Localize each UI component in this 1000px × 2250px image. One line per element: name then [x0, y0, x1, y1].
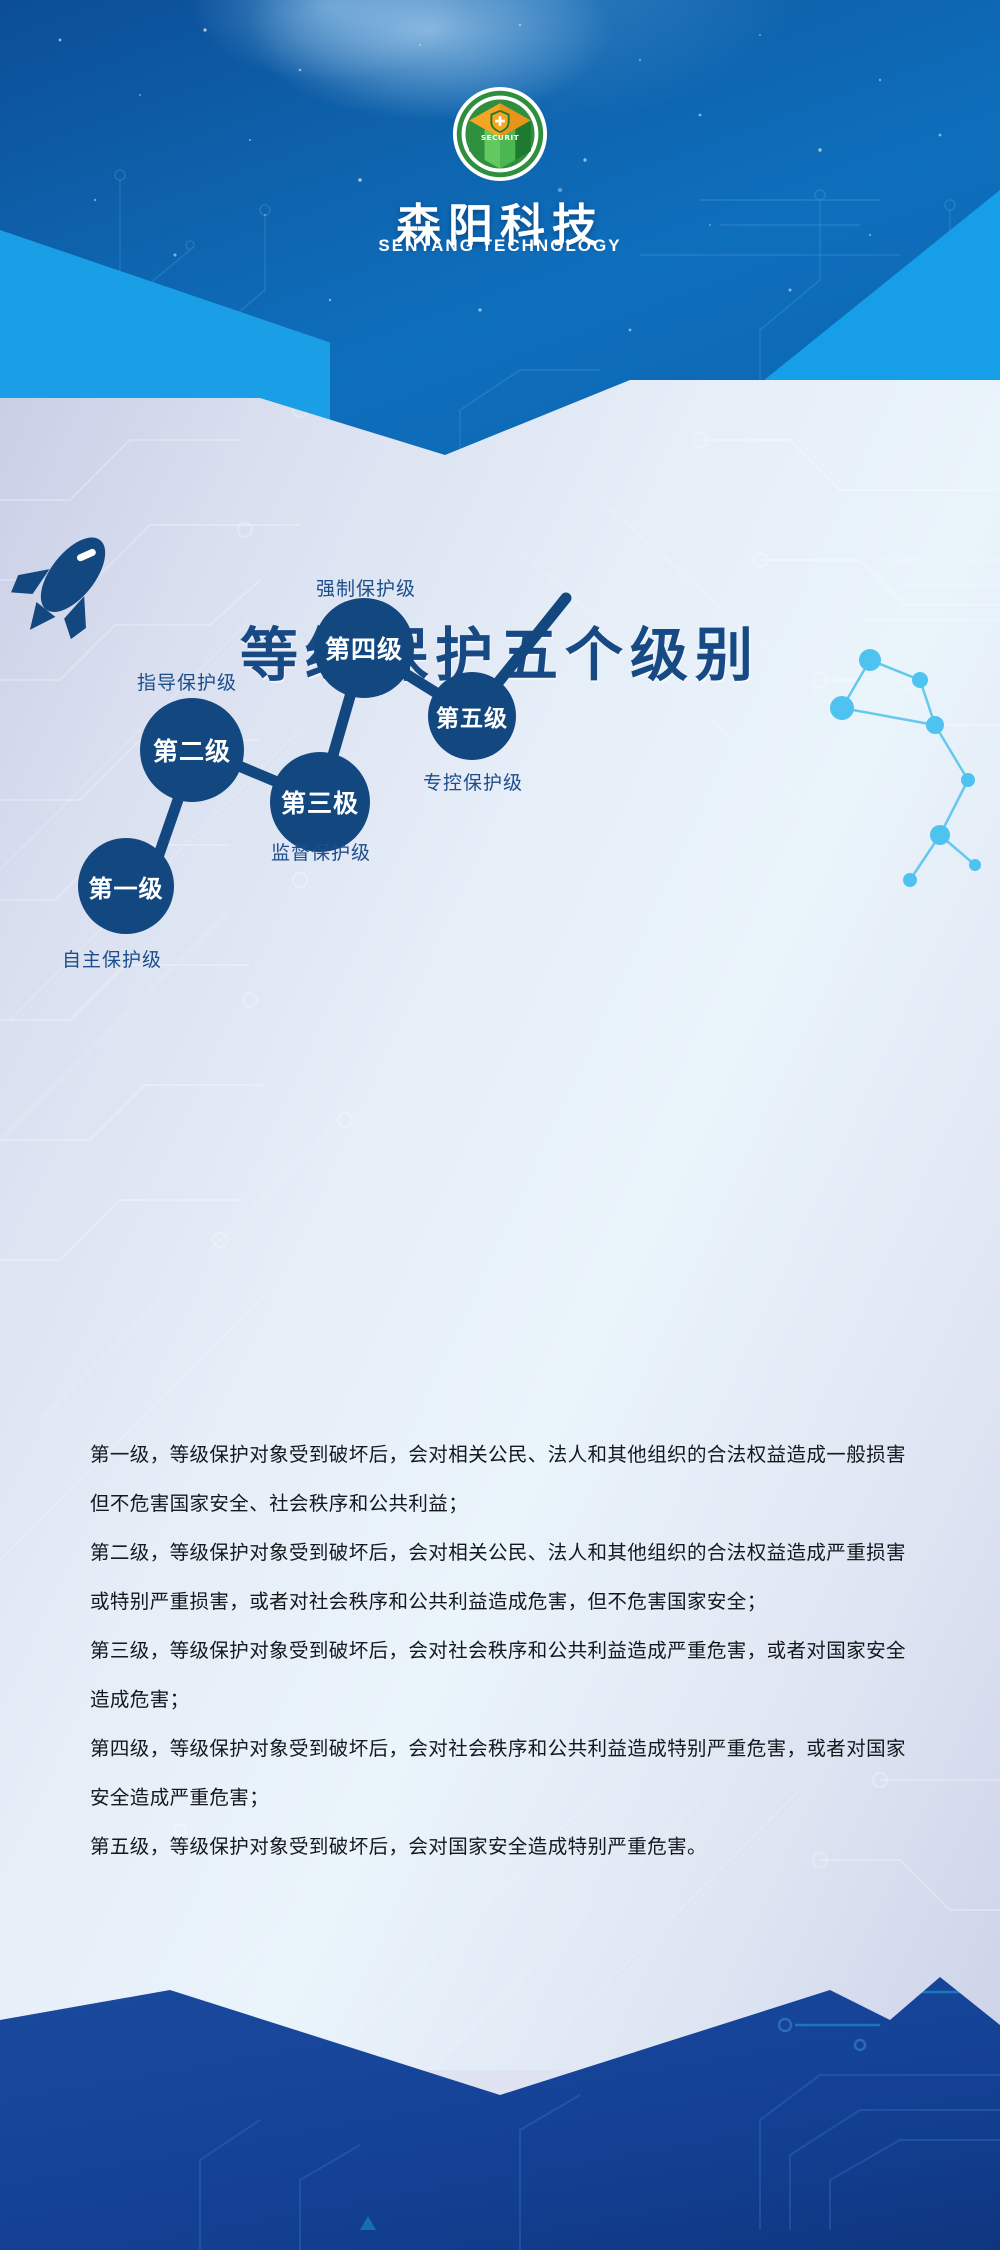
node-level3[interactable]: 第三极 — [270, 752, 370, 852]
node-level1[interactable]: 第一级 — [78, 838, 174, 934]
description-paragraph-1: 第一级，等级保护对象受到破坏后，会对相关公民、法人和其他组织的合法权益造成一般损… — [90, 1430, 920, 1528]
node-level5-caption: 专控保护级 — [423, 768, 523, 795]
node-level2-label: 第二级 — [153, 732, 231, 768]
description-paragraph-4: 第四级，等级保护对象受到破坏后，会对社会秩序和公共利益造成特别严重危害，或者对国… — [90, 1724, 920, 1822]
senyang-hexagon-shield-logo-icon: SECURIT — [452, 86, 548, 182]
node-level4-label: 第四级 — [325, 630, 403, 666]
logo-badge-text: SECURIT — [481, 133, 519, 142]
brand-logo: SECURIT — [0, 86, 1000, 187]
node-level4[interactable]: 第四级 — [314, 598, 414, 698]
node-level3-caption: 监督保护级 — [271, 838, 371, 865]
description-paragraph-3: 第三级，等级保护对象受到破坏后，会对社会秩序和公共利益造成严重危害，或者对国家安… — [90, 1626, 920, 1724]
molecule-network-icon — [800, 630, 1000, 930]
node-level5[interactable]: 第五级 — [428, 672, 516, 760]
brand-name-en: SENYANG TECHNOLOGY — [0, 236, 1000, 256]
description-paragraph-5: 第五级，等级保护对象受到破坏后，会对国家安全造成特别严重危害。 — [90, 1822, 920, 1871]
description-paragraph-2: 第二级，等级保护对象受到破坏后，会对相关公民、法人和其他组织的合法权益造成严重损… — [90, 1528, 920, 1626]
description-block: 第一级，等级保护对象受到破坏后，会对相关公民、法人和其他组织的合法权益造成一般损… — [90, 1430, 920, 1871]
node-level5-label: 第五级 — [436, 699, 508, 733]
node-level2-caption: 指导保护级 — [137, 668, 237, 695]
node-level2[interactable]: 第二级 — [140, 698, 244, 802]
poster-root: SECURIT 森阳科技 SENYANG TECHNOLOGY 等级保护五个级别 — [0, 0, 1000, 2250]
node-level4-caption: 强制保护级 — [316, 574, 416, 601]
node-level1-label: 第一级 — [89, 869, 164, 904]
rocket-icon — [0, 520, 130, 650]
node-level1-caption: 自主保护级 — [62, 945, 162, 972]
node-level3-label: 第三极 — [281, 784, 359, 820]
